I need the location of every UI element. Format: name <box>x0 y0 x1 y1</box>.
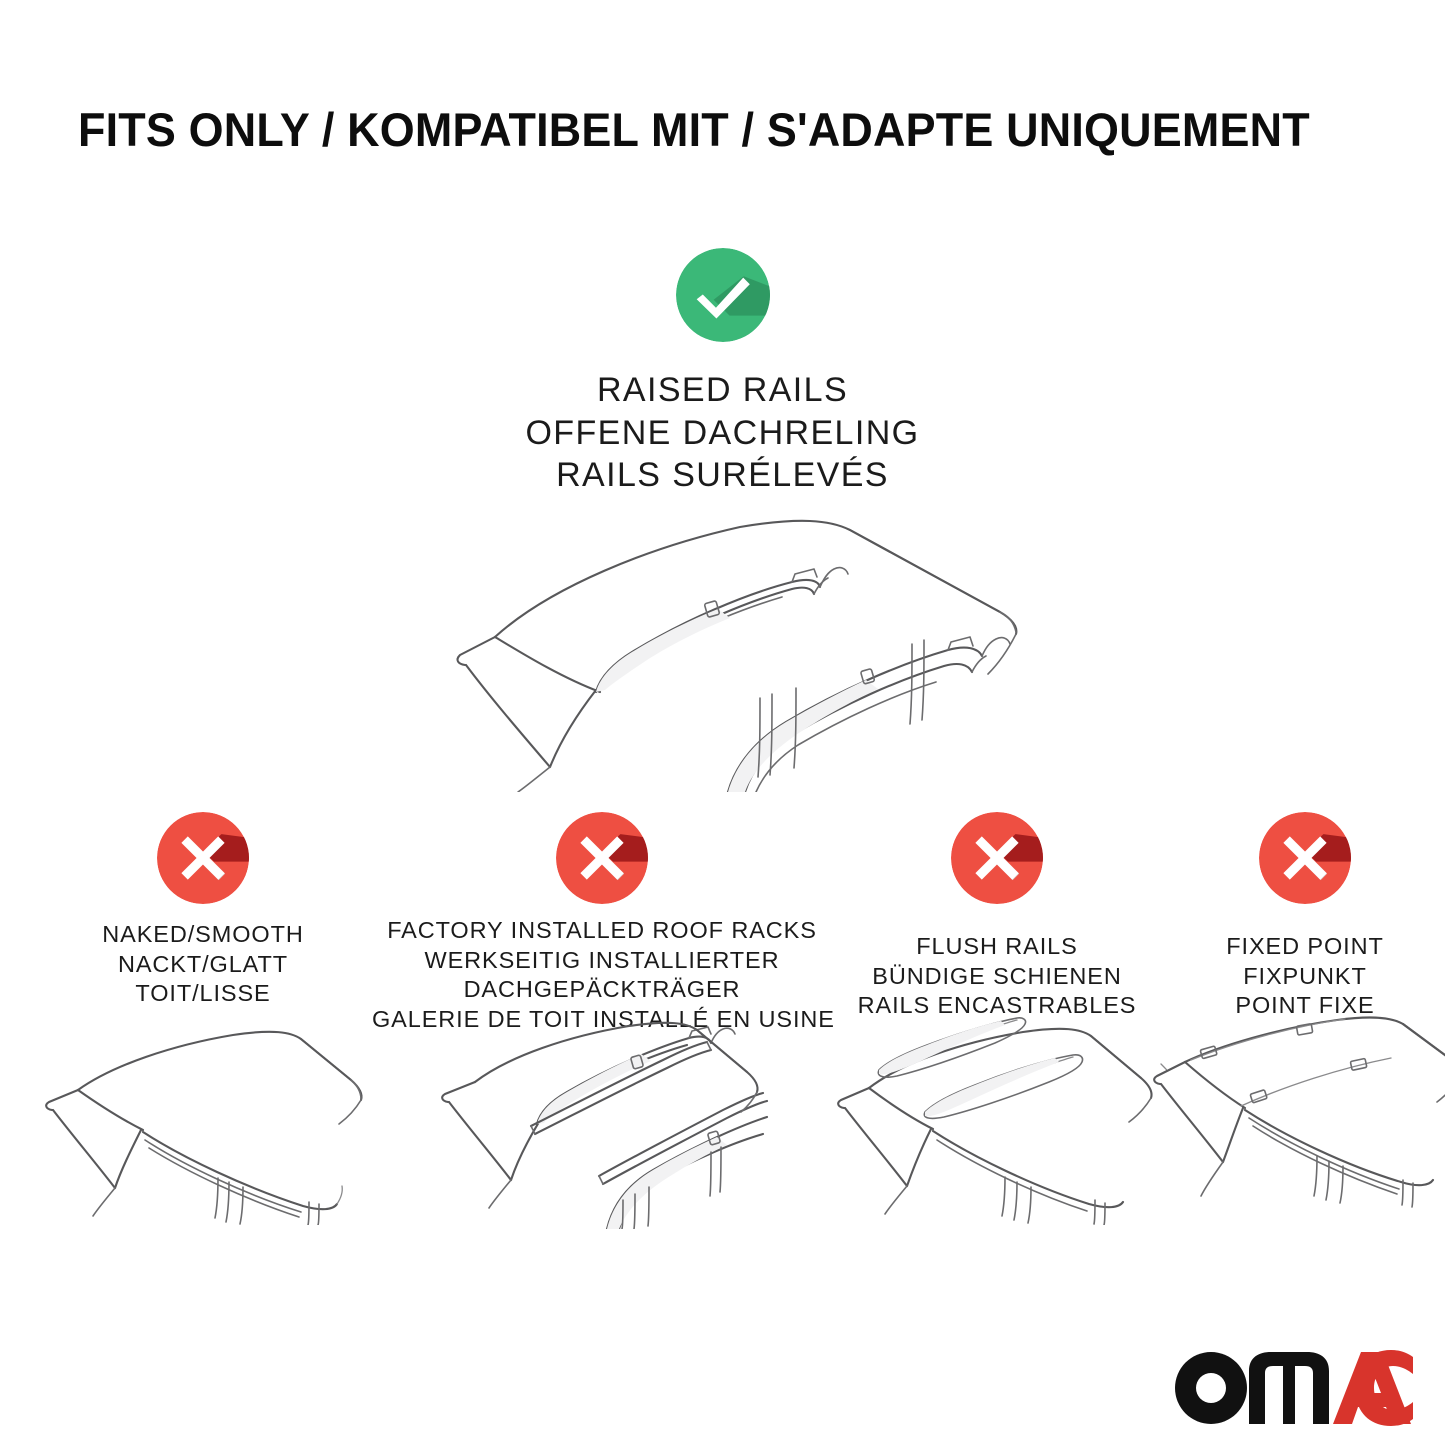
incompatible-option-factory-roof-racks: FACTORY INSTALLED ROOF RACKS WERKSEITIG … <box>372 812 832 1034</box>
caption-line: NAKED/SMOOTH <box>38 920 368 950</box>
compatible-option: RAISED RAILS OFFENE DACHRELING RAILS SUR… <box>0 248 1445 497</box>
check-circle-icon <box>676 248 770 342</box>
caption-line: RAISED RAILS <box>0 369 1445 412</box>
cross-circle-icon <box>157 812 249 904</box>
caption-line: WERKSEITIG INSTALLIERTER <box>372 946 832 976</box>
car-roof-bare-illustration <box>33 1010 373 1225</box>
option-caption: FIXED POINT FIXPUNKT POINT FIXE <box>1160 916 1445 1021</box>
incompatible-option-fixed-point: FIXED POINT FIXPUNKT POINT FIXE <box>1160 812 1445 1021</box>
caption-line: BÜNDIGE SCHIENEN <box>832 962 1162 992</box>
compatibility-infographic: FITS ONLY / KOMPATIBEL MIT / S'ADAPTE UN… <box>0 0 1445 1445</box>
caption-line: TOIT/LISSE <box>38 979 368 1009</box>
caption-line: FACTORY INSTALLED ROOF RACKS <box>372 916 832 946</box>
incompatible-options: NAKED/SMOOTH NACKT/GLATT TOIT/LISSE <box>0 812 1445 1242</box>
option-caption: FLUSH RAILS BÜNDIGE SCHIENEN RAILS ENCAS… <box>832 916 1162 1021</box>
cross-circle-icon <box>951 812 1043 904</box>
incompatible-option-flush-rails: FLUSH RAILS BÜNDIGE SCHIENEN RAILS ENCAS… <box>832 812 1162 1021</box>
caption-line: FLUSH RAILS <box>832 932 1162 962</box>
cross-circle-icon <box>1259 812 1351 904</box>
caption-line: FIXED POINT <box>1160 932 1445 962</box>
car-roof-with-raised-rails-illustration <box>400 492 1050 792</box>
car-roof-with-factory-crossbars-illustration <box>427 1004 777 1229</box>
caption-line: DACHGEPÄCKTRÄGER <box>372 975 832 1005</box>
caption-line: FIXPUNKT <box>1160 962 1445 992</box>
compatible-caption: RAISED RAILS OFFENE DACHRELING RAILS SUR… <box>0 369 1445 497</box>
caption-line: RAILS SURÉLEVÉS <box>0 454 1445 497</box>
incompatible-option-naked-smooth: NAKED/SMOOTH NACKT/GLATT TOIT/LISSE <box>38 812 368 1009</box>
caption-line: NACKT/GLATT <box>38 950 368 980</box>
car-roof-with-fixed-points-illustration <box>1145 1010 1445 1225</box>
caption-line: OFFENE DACHRELING <box>0 412 1445 455</box>
page-title: FITS ONLY / KOMPATIBEL MIT / S'ADAPTE UN… <box>78 104 1320 156</box>
cross-circle-icon <box>556 812 648 904</box>
car-roof-with-flush-rails-illustration <box>827 1010 1167 1225</box>
option-caption: NAKED/SMOOTH NACKT/GLATT TOIT/LISSE <box>38 916 368 1009</box>
omac-logo <box>1167 1343 1427 1433</box>
